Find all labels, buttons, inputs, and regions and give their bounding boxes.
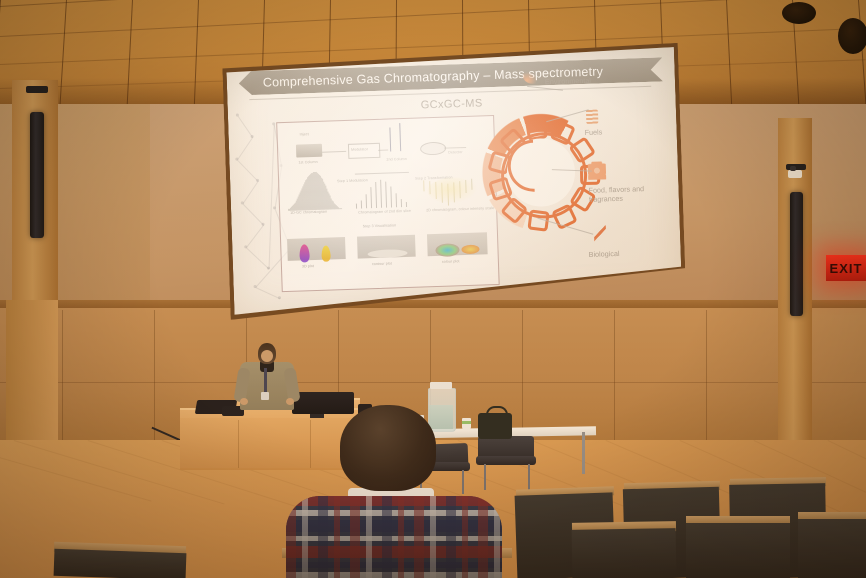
seat-back bbox=[686, 523, 790, 578]
exit-sign-label: EXIT bbox=[830, 261, 863, 276]
watermark-edge bbox=[237, 137, 253, 160]
presenter-badge bbox=[261, 392, 269, 400]
monitor-stand bbox=[310, 414, 324, 418]
ceiling-downlight bbox=[838, 18, 866, 54]
speaker-mount-left bbox=[26, 86, 48, 93]
watermark-edge bbox=[242, 203, 263, 225]
comb-peak bbox=[401, 199, 402, 207]
presenter-face bbox=[261, 350, 273, 362]
app-label-food: Food, flavors and fragrances bbox=[588, 184, 659, 204]
2d-contour bbox=[277, 116, 493, 123]
flow-line-3 bbox=[444, 147, 466, 149]
shirt-shading bbox=[286, 496, 502, 578]
projection-screen: Comprehensive Gas Chromatography – Mass … bbox=[222, 43, 687, 326]
podium-seam-2 bbox=[310, 420, 311, 468]
detector-icon bbox=[420, 142, 446, 156]
comb-peak bbox=[390, 187, 392, 208]
app-label-biological: Biological bbox=[589, 249, 620, 259]
wall-seam bbox=[614, 310, 615, 460]
cup-stack bbox=[430, 382, 452, 389]
label-contour-plot: contour plot bbox=[372, 261, 392, 266]
label-detector: Detector bbox=[448, 150, 463, 154]
comb-baseline bbox=[355, 172, 409, 175]
comb-peak bbox=[356, 204, 357, 209]
wall-camera bbox=[788, 170, 802, 178]
seat-back bbox=[54, 549, 187, 578]
podium-seam-1 bbox=[238, 420, 239, 468]
comb-peak bbox=[406, 202, 407, 207]
watermark-edge bbox=[242, 181, 258, 204]
microscope-icon bbox=[594, 225, 607, 241]
watermark-edge bbox=[255, 287, 280, 299]
presenter-lanyard bbox=[264, 368, 267, 394]
label-second-column: 2nd Column bbox=[386, 157, 407, 162]
shoulder-bag bbox=[478, 413, 512, 439]
label-step3: Step 3 Visualisation bbox=[363, 223, 397, 228]
watermark-edge bbox=[237, 159, 258, 181]
label-colour-plot: colour plot bbox=[442, 259, 460, 264]
1d-chromatogram bbox=[277, 116, 493, 123]
lecture-hall-photo: EXIT Comprehensive Gas Chromatography – … bbox=[0, 0, 866, 578]
line-array-speaker-left bbox=[30, 112, 44, 238]
seat-back bbox=[572, 528, 677, 578]
watermark-edge bbox=[237, 115, 253, 137]
presenter-hand-left bbox=[240, 398, 248, 405]
line-array-speaker-right bbox=[790, 192, 803, 316]
comb-peak bbox=[380, 180, 382, 208]
camera-lens-icon bbox=[790, 166, 796, 171]
label-modulator: Modulator bbox=[351, 147, 368, 152]
app-label-environmental: Environmental bbox=[545, 76, 591, 87]
label-3d-plot: 3D plot bbox=[302, 264, 314, 268]
comb-peak bbox=[370, 188, 372, 209]
peak-b bbox=[399, 123, 401, 151]
wall-seam bbox=[62, 310, 63, 460]
comb-peaks bbox=[355, 175, 412, 209]
peak-a bbox=[389, 127, 391, 151]
flow-line-1 bbox=[322, 151, 346, 153]
monitor[interactable] bbox=[292, 392, 354, 414]
plot-panel-3d bbox=[287, 237, 346, 261]
modulated-peaks bbox=[277, 116, 493, 123]
wall-seam bbox=[706, 310, 707, 460]
label-first-column: 1st Column bbox=[298, 160, 317, 165]
surface-column bbox=[423, 180, 424, 191]
chair-leg bbox=[528, 464, 530, 490]
label-inject: Inject bbox=[300, 132, 309, 136]
left-column-base bbox=[6, 300, 58, 450]
1d-trace bbox=[287, 177, 342, 211]
fuel-barrel-icon bbox=[586, 110, 598, 124]
attendee-head bbox=[340, 405, 436, 491]
comb-peak bbox=[375, 182, 377, 208]
comb-peak bbox=[366, 194, 368, 208]
exit-sign: EXIT bbox=[826, 255, 866, 281]
paper-cup-band bbox=[462, 421, 471, 424]
slide-title-banner: Comprehensive Gas Chromatography – Mass … bbox=[238, 57, 663, 95]
label-2d-slice: Chromatogram of 2nd dim slice bbox=[358, 209, 411, 215]
comb-peak bbox=[361, 200, 362, 208]
chair-leg bbox=[462, 470, 464, 494]
watermark-edge bbox=[268, 124, 274, 268]
injector-instrument bbox=[296, 144, 322, 158]
presenter-hand-right bbox=[286, 398, 294, 405]
comb-peak bbox=[385, 182, 387, 208]
wall-seam bbox=[154, 310, 155, 460]
seat-back bbox=[798, 519, 866, 578]
watermark-edge bbox=[246, 247, 269, 269]
table-leg-right bbox=[582, 432, 585, 474]
paper-cup bbox=[462, 418, 471, 430]
watermark-edge bbox=[246, 225, 264, 248]
chair-leg bbox=[484, 464, 486, 490]
flow-line-2 bbox=[378, 150, 388, 151]
trace-column bbox=[341, 208, 342, 209]
pitcher-water bbox=[429, 405, 453, 429]
attendee-plaid-shirt bbox=[286, 496, 502, 578]
comb-peak bbox=[396, 193, 398, 207]
ceiling-downlight bbox=[782, 2, 816, 24]
app-label-fuels: Fuels bbox=[585, 127, 603, 137]
